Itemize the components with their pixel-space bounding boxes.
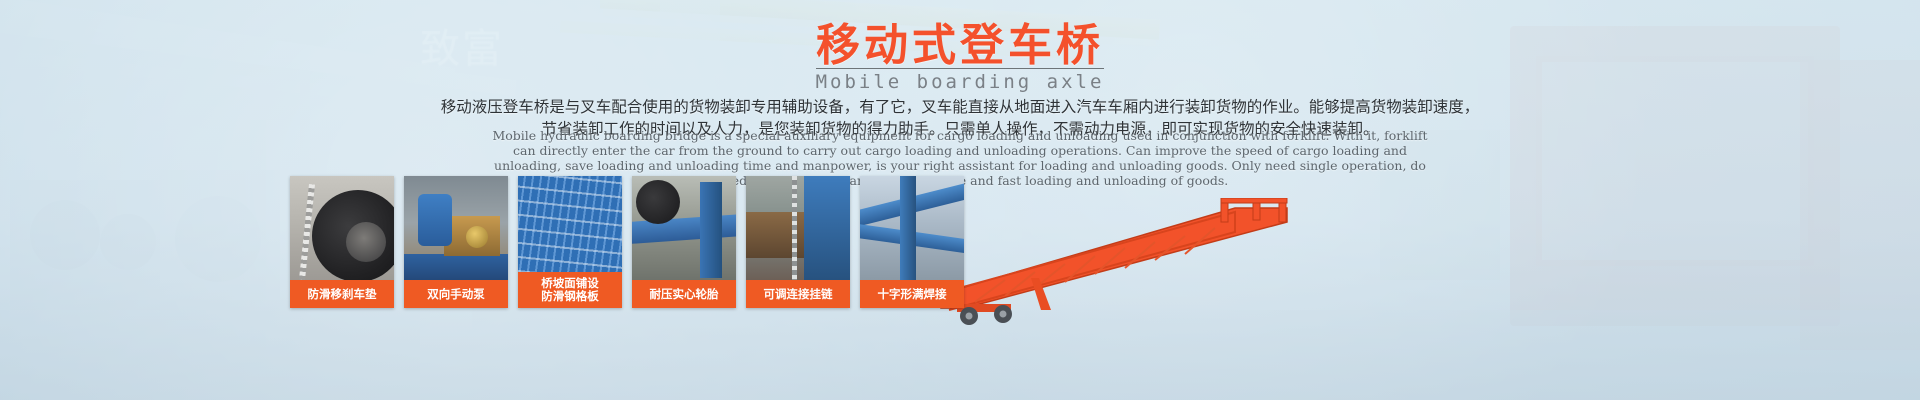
feature-card-bidirectional-pump[interactable]: 双向手动泵: [404, 176, 508, 308]
feature-photo-cross-shaped-full-weld-joint: [860, 176, 964, 280]
page-title: 移动式登车桥: [0, 22, 1920, 70]
feature-photo-forklift-tire-with-chain: [290, 176, 394, 280]
feature-caption: 桥坡面铺设 防滑钢格板: [518, 272, 622, 308]
feature-photo-blue-frame-with-solid-tire: [632, 176, 736, 280]
feature-card-solid-tire[interactable]: 耐压实心轮胎: [632, 176, 736, 308]
feature-card-adjustable-chain[interactable]: 可调连接挂链: [746, 176, 850, 308]
feature-photo-adjustable-connecting-chain: [746, 176, 850, 280]
feature-card-anti-slip-steel-grid[interactable]: 桥坡面铺设 防滑钢格板: [518, 176, 622, 308]
feature-card-cross-full-weld[interactable]: 十字形满焊接: [860, 176, 964, 308]
subtitle-wrapper: Mobile boarding axle: [0, 68, 1920, 93]
feature-caption-text: 桥坡面铺设 防滑钢格板: [541, 277, 599, 303]
feature-caption: 耐压实心轮胎: [632, 280, 736, 308]
feature-caption: 可调连接挂链: [746, 280, 850, 308]
feature-thumbnail-row: 防滑移刹车垫 双向手动泵 桥坡面铺设 防滑钢格板: [290, 176, 964, 308]
feature-photo-blue-steel-grating-deck: [518, 176, 622, 272]
feature-caption: 防滑移刹车垫: [290, 280, 394, 308]
promo-banner: 致富: [0, 0, 1920, 400]
feature-caption: 双向手动泵: [404, 280, 508, 308]
description-chinese-line1: 移动液压登车桥是与叉车配合使用的货物装卸专用辅助设备，有了它，叉车能直接从地面进…: [441, 98, 1480, 116]
feature-caption: 十字形满焊接: [860, 280, 964, 308]
feature-photo-blue-hydraulic-hand-pump: [404, 176, 508, 280]
feature-card-anti-slip-brake-pad[interactable]: 防滑移刹车垫: [290, 176, 394, 308]
page-subtitle: Mobile boarding axle: [816, 68, 1105, 93]
